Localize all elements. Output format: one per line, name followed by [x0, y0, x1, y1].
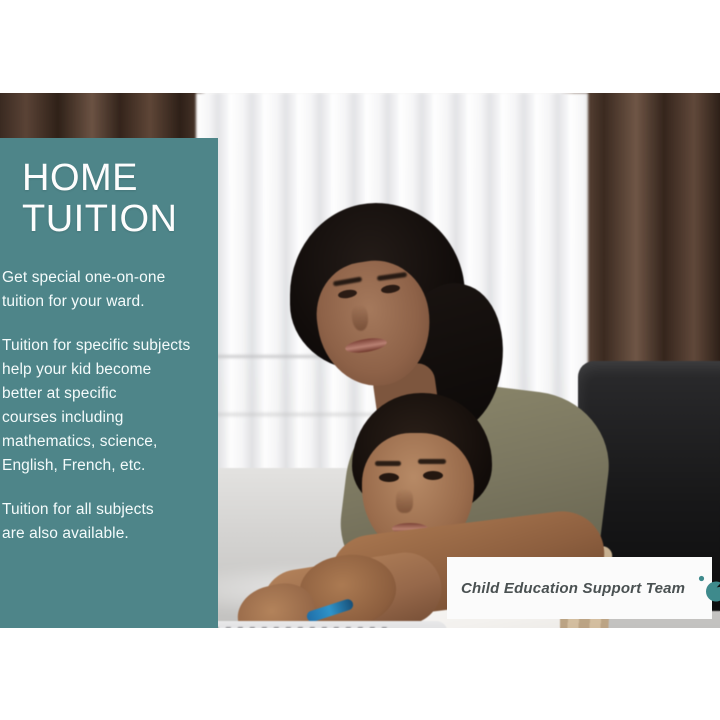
child-nose	[396, 489, 413, 513]
paragraph-one-on-one: Get special one-on-one tuition for your …	[2, 266, 214, 314]
bottom-letterbox-band	[0, 628, 720, 720]
child-eye-right	[423, 471, 443, 480]
paragraph-all-subjects: Tuition for all subjects are also availa…	[2, 498, 214, 546]
child-eyebrow-right	[418, 459, 446, 464]
flyer-canvas: HOME TUITION Get special one-on-one tuit…	[0, 0, 720, 720]
sparkle-dot-icon	[699, 576, 704, 581]
child-eyebrow-left	[375, 461, 401, 466]
paragraph-specific-subjects: Tuition for specific subjects help your …	[2, 334, 214, 478]
teal-copy-panel: HOME TUITION Get special one-on-one tuit…	[0, 138, 218, 628]
logo-badge: Child Education Support Team	[447, 557, 712, 619]
child-eye-left	[379, 473, 399, 482]
teal-crescent-bird-icon	[695, 571, 720, 605]
top-letterbox-band	[0, 0, 720, 93]
page-title: HOME TUITION	[22, 158, 214, 240]
logo-text: Child Education Support Team	[461, 580, 685, 597]
